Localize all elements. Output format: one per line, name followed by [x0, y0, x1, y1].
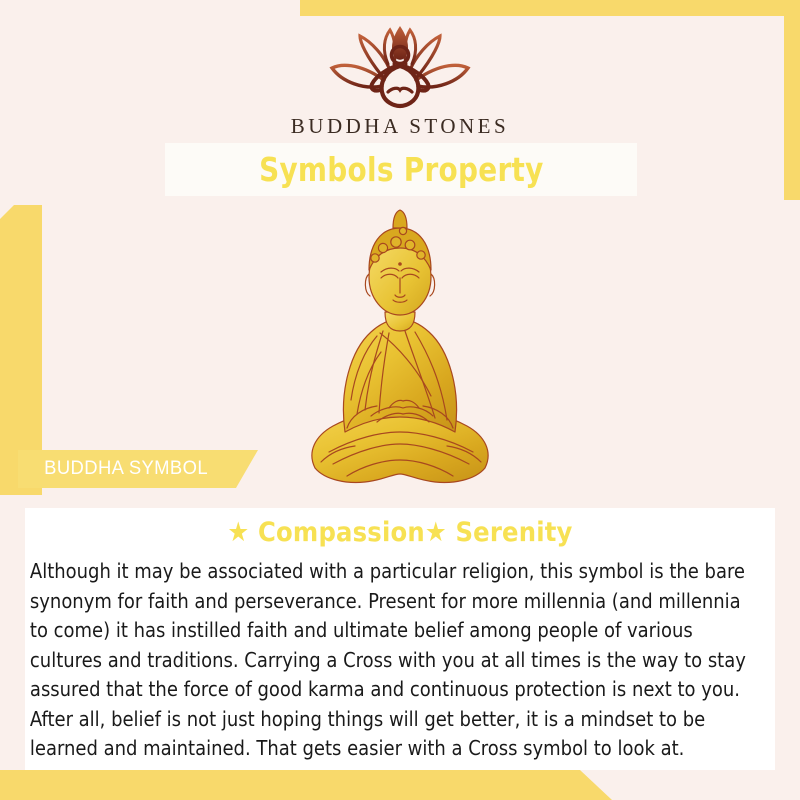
- promo-graphic-page: BUDDHA STONES Symbols Property: [0, 0, 800, 800]
- seated-golden-buddha-statue-illustration: [285, 200, 515, 490]
- symbol-tag-label: BUDDHA SYMBOL: [21, 458, 208, 480]
- content-headline: ★ Compassion★ Serenity: [25, 517, 775, 548]
- title-banner: Symbols Property: [165, 143, 637, 196]
- brand-name: BUDDHA STONES: [291, 114, 509, 139]
- buddha-symbol-tag: BUDDHA SYMBOL: [18, 450, 258, 488]
- frame-top-bar: [300, 0, 800, 16]
- page-title: Symbols Property: [259, 150, 544, 189]
- content-body-text: Although it may be associated with a par…: [25, 557, 764, 764]
- content-panel: ★ Compassion★ Serenity Although it may b…: [25, 508, 775, 770]
- lotus-meditation-figure-icon: [310, 20, 490, 110]
- frame-bottom-bar: [0, 770, 612, 800]
- brand-header: BUDDHA STONES: [0, 20, 800, 139]
